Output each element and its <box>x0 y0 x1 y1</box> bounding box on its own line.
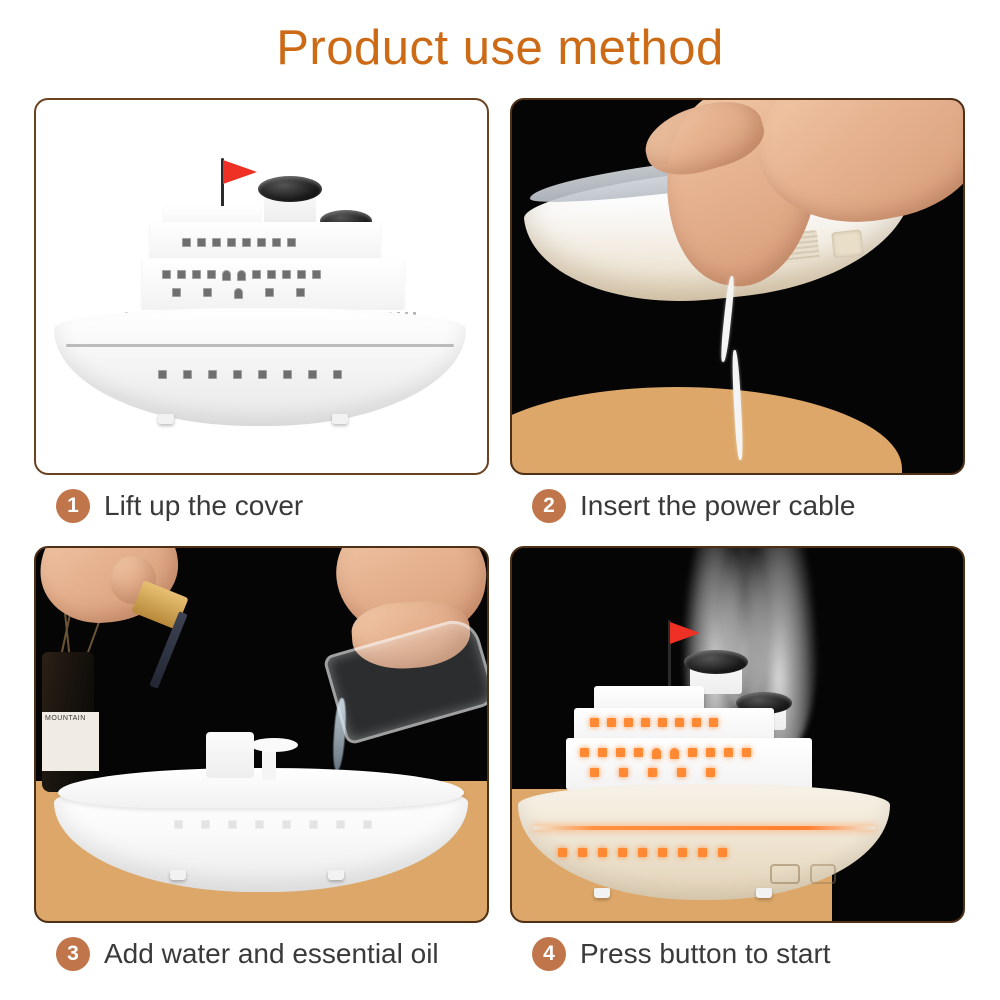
foot-left <box>594 888 610 898</box>
cabin-window-row-2 <box>172 288 305 299</box>
window <box>212 238 221 247</box>
window <box>227 238 236 247</box>
step-card-4: 4 Press button to start <box>510 546 965 986</box>
window-lit <box>706 748 715 757</box>
window-lit-arched <box>652 748 661 759</box>
window <box>207 270 216 279</box>
window <box>201 820 210 829</box>
step-caption-text-1: Lift up the cover <box>104 490 303 522</box>
nozzle-post <box>262 748 276 780</box>
foot-right <box>756 888 772 898</box>
foot-left <box>158 414 174 424</box>
window-lit <box>658 718 667 727</box>
window <box>283 370 292 379</box>
foot-right <box>328 870 344 880</box>
cabin-window-row-2 <box>590 768 715 777</box>
window-lit <box>698 848 707 857</box>
step-caption-text-4: Press button to start <box>580 938 831 970</box>
funnel-large-cap <box>258 176 322 202</box>
window-lit-arched <box>670 748 679 759</box>
base-unit <box>54 766 468 892</box>
hull-window-row <box>558 848 727 857</box>
window <box>177 270 186 279</box>
window <box>282 270 291 279</box>
red-flag-icon <box>223 160 257 184</box>
hull-window-row <box>158 370 342 379</box>
window <box>336 820 345 829</box>
base-window-row <box>174 820 372 829</box>
step-image-4 <box>510 546 965 923</box>
window <box>312 270 321 279</box>
step-card-2: 2 Insert the power cable <box>510 98 965 538</box>
window-lit <box>580 748 589 757</box>
window-lit <box>706 768 715 777</box>
window-lit <box>598 748 607 757</box>
window-lit <box>598 848 607 857</box>
ship-humidifier <box>54 158 466 426</box>
window-lit <box>607 718 616 727</box>
window <box>258 370 267 379</box>
window-arched <box>222 270 231 281</box>
window <box>333 370 342 379</box>
scene-white-studio <box>36 100 487 473</box>
step-card-1: 1 Lift up the cover <box>34 98 489 538</box>
window <box>287 238 296 247</box>
step-caption-1: 1 Lift up the cover <box>56 482 303 530</box>
step-image-3: MOUNTAIN <box>34 546 489 923</box>
window <box>308 370 317 379</box>
ship-humidifier-lit <box>518 620 890 900</box>
window <box>158 370 167 379</box>
window <box>192 270 201 279</box>
window <box>255 820 264 829</box>
step-caption-4: 4 Press button to start <box>532 930 831 978</box>
cabin-window-row-1 <box>162 270 321 281</box>
window <box>162 270 171 279</box>
window-lit <box>616 748 625 757</box>
window <box>257 238 266 247</box>
red-flag-icon <box>670 622 700 644</box>
main-cabin <box>566 738 812 790</box>
window-lit <box>688 748 697 757</box>
window-lit <box>638 848 647 857</box>
bridge-window-row <box>182 238 296 247</box>
step-image-2 <box>510 98 965 475</box>
glass-pitcher <box>322 614 489 745</box>
window <box>233 370 242 379</box>
funnel-large-cap <box>684 650 748 674</box>
window-lit <box>578 848 587 857</box>
window <box>282 820 291 829</box>
step-badge-4: 4 <box>532 937 566 971</box>
hull-stripe <box>66 344 453 347</box>
window-lit <box>634 748 643 757</box>
window <box>203 288 212 297</box>
window <box>242 238 251 247</box>
window <box>309 820 318 829</box>
mist-button[interactable] <box>810 864 836 884</box>
window-lit <box>558 848 567 857</box>
window-arched <box>234 288 243 299</box>
step-image-1 <box>34 98 489 475</box>
window-lit <box>709 718 718 727</box>
window-lit <box>618 848 627 857</box>
window-lit <box>590 768 599 777</box>
hull-glow-stripe <box>532 826 876 830</box>
bottle-label: MOUNTAIN <box>42 712 99 771</box>
step-badge-3: 3 <box>56 937 90 971</box>
window-lit <box>677 768 686 777</box>
page-title: Product use method <box>0 20 1000 76</box>
window <box>363 820 372 829</box>
window-lit <box>724 748 733 757</box>
window <box>267 270 276 279</box>
scene-dark-table-running <box>512 548 963 921</box>
wooden-table <box>510 387 902 475</box>
window-lit <box>590 718 599 727</box>
nozzle-cap <box>250 738 298 752</box>
step-caption-text-2: Insert the power cable <box>580 490 856 522</box>
bridge-window-row <box>590 718 718 727</box>
window-lit <box>624 718 633 727</box>
window-lit <box>718 848 727 857</box>
foot-right <box>332 414 348 424</box>
step-caption-2: 2 Insert the power cable <box>532 482 856 530</box>
base-rim <box>58 768 464 808</box>
steps-grid: 1 Lift up the cover <box>0 96 1000 986</box>
window <box>197 238 206 247</box>
power-button[interactable] <box>770 864 800 884</box>
window <box>174 820 183 829</box>
scene-dark-table-filling: MOUNTAIN <box>36 548 487 921</box>
cable-port <box>831 229 864 258</box>
step-badge-2: 2 <box>532 489 566 523</box>
window <box>296 288 305 297</box>
window-lit <box>678 848 687 857</box>
window <box>208 370 217 379</box>
window <box>183 370 192 379</box>
window-lit <box>658 848 667 857</box>
window-lit <box>692 718 701 727</box>
window <box>182 238 191 247</box>
window-arched <box>237 270 246 281</box>
window <box>172 288 181 297</box>
cabin-window-row-1 <box>580 748 751 759</box>
main-cabin <box>142 258 404 310</box>
window <box>297 270 306 279</box>
window-lit <box>675 718 684 727</box>
window-lit <box>648 768 657 777</box>
step-caption-text-3: Add water and essential oil <box>104 938 439 970</box>
window <box>265 288 274 297</box>
window-lit <box>742 748 751 757</box>
hull <box>54 308 466 426</box>
window <box>252 270 261 279</box>
window <box>272 238 281 247</box>
foot-left <box>170 870 186 880</box>
step-card-3: MOUNTAIN <box>34 546 489 986</box>
scene-dark-hand-holding <box>512 100 963 473</box>
step-caption-3: 3 Add water and essential oil <box>56 930 439 978</box>
window <box>228 820 237 829</box>
step-badge-1: 1 <box>56 489 90 523</box>
window-lit <box>641 718 650 727</box>
water-tank-spout <box>206 732 254 778</box>
window-lit <box>619 768 628 777</box>
